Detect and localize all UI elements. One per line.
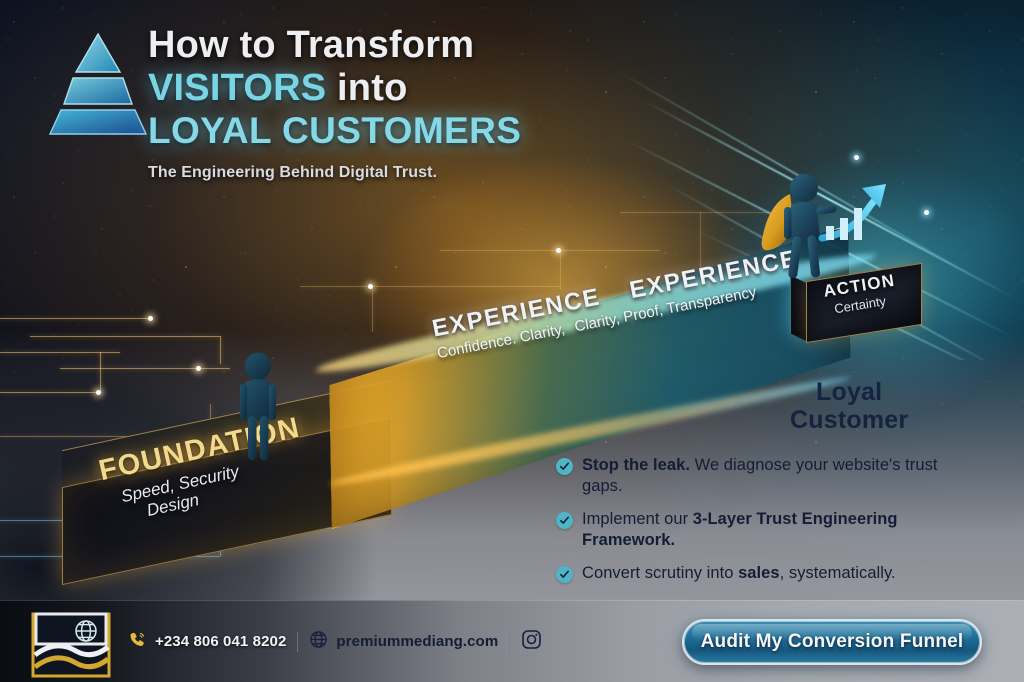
visitor-figure (228, 352, 288, 462)
list-item: Stop the leak. We diagnose your website'… (556, 455, 966, 497)
divider (509, 632, 510, 652)
headline-into: into (337, 67, 407, 109)
check-icon (556, 566, 573, 583)
bullet-1-lead: Stop the leak. (582, 456, 690, 474)
loyal-customer-line1: Loyal (790, 378, 908, 406)
phone-icon (128, 630, 147, 654)
headline-line-1: How to Transform (148, 26, 568, 65)
check-icon (556, 512, 573, 529)
bullet-3-tail: sales (738, 564, 780, 582)
instagram-icon[interactable] (521, 629, 542, 655)
cta-button[interactable]: Audit My Conversion Funnel (682, 619, 982, 665)
check-icon (556, 458, 573, 475)
headline-loyal-customers: LOYAL CUSTOMERS (148, 111, 568, 152)
headline-block: How to Transform VISITORS into LOYAL CUS… (148, 26, 568, 182)
divider (297, 632, 298, 652)
growth-chart-icon (818, 176, 908, 248)
website-contact[interactable]: premiummediang.com (309, 630, 498, 654)
phone-contact[interactable]: +234 806 041 8202 (128, 630, 286, 654)
headline-subtitle: The Engineering Behind Digital Trust. (148, 164, 568, 182)
bullet-2-rest: Implement our (582, 510, 693, 528)
company-logo (30, 611, 112, 679)
loyal-customer-label: Loyal Customer (790, 378, 908, 434)
infographic-canvas: FOUNDATION Speed, Security Design EXPERI… (0, 0, 1024, 682)
cta-button-label: Audit My Conversion Funnel (701, 631, 964, 653)
brand-pyramid-logo (44, 28, 152, 138)
bullet-3-tail-rest: , systematically. (780, 564, 896, 582)
contact-info: +234 806 041 8202 (128, 601, 542, 682)
phone-number: +234 806 041 8202 (155, 633, 286, 650)
footer-bar: +234 806 041 8202 (0, 600, 1024, 682)
headline-visitors: VISITORS (148, 67, 326, 109)
bullet-3-rest: Convert scrutiny into (582, 564, 738, 582)
list-item: Implement our 3-Layer Trust Engineering … (556, 509, 966, 551)
loyal-customer-line2: Customer (790, 406, 908, 434)
website-url: premiummediang.com (336, 633, 498, 650)
benefits-list: Stop the leak. We diagnose your website'… (556, 455, 966, 596)
globe-icon (309, 630, 328, 654)
list-item: Convert scrutiny into sales, systematica… (556, 563, 966, 584)
